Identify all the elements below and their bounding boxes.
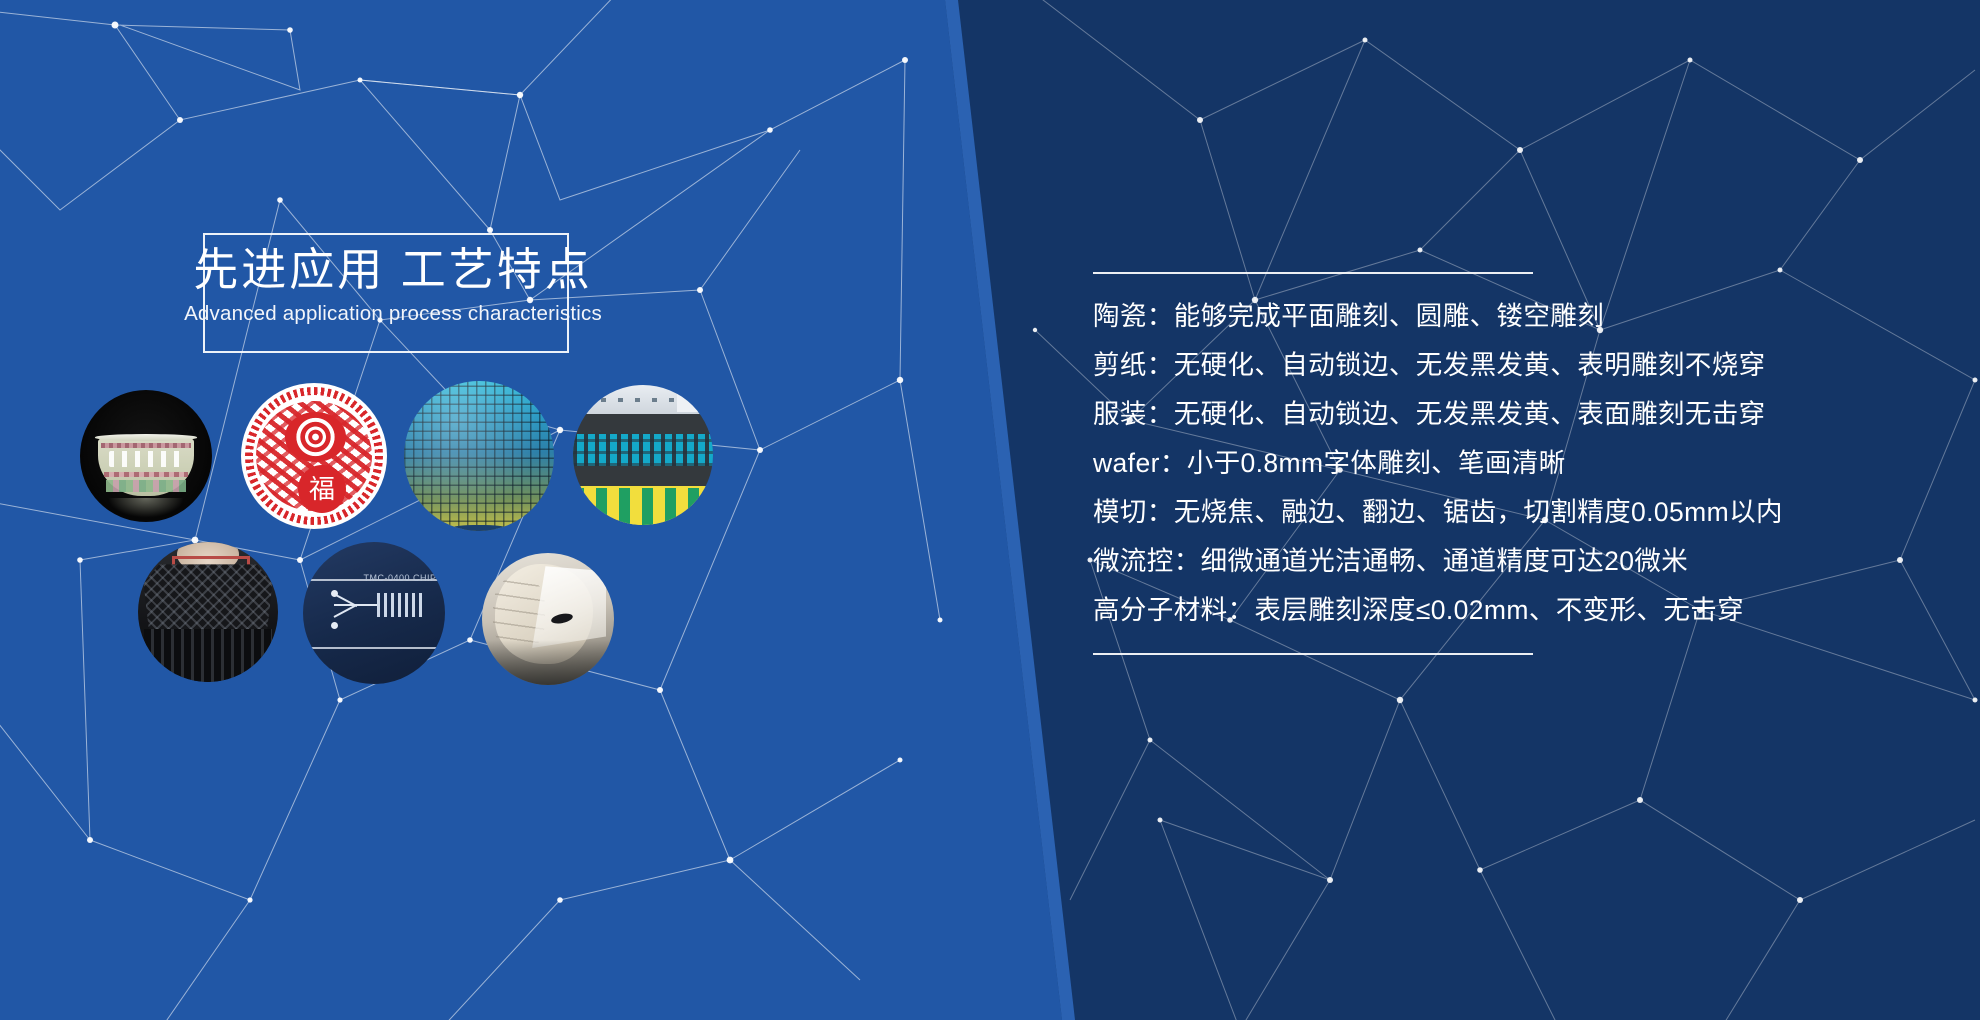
gallery-image-paper-cutting[interactable]: 福 <box>241 383 387 529</box>
gallery-image-silicon-wafer[interactable] <box>404 381 554 531</box>
bowl-rim <box>95 434 198 441</box>
divider-bottom <box>1093 653 1533 655</box>
photo-bottom-shadow <box>482 640 614 685</box>
feature-item-microfluidics: 微流控：细微通道光洁通畅、通道精度可达20微米 <box>1093 537 1893 586</box>
apparel-photo <box>138 542 278 682</box>
gallery-image-ceramic-bowl[interactable] <box>80 390 212 522</box>
gallery-image-polymer-film-in-hand[interactable] <box>482 553 614 685</box>
feature-item-diecut: 模切：无烧焦、融边、翻边、锯齿，切割精度0.05mm以内 <box>1093 488 1893 537</box>
chip-band-cyan <box>573 434 713 466</box>
paper-cut-fu-glyph: 福 <box>298 465 346 513</box>
ceramic-bowl-photo <box>80 390 212 522</box>
chip-band-dark-lower <box>573 466 713 486</box>
feature-item-papercut: 剪纸：无硬化、自动锁边、无发黑发黄、表明雕刻不烧穿 <box>1093 341 1893 390</box>
microfluidic-chip-photo: TMC-0400 CHIP <box>303 542 445 684</box>
chip-micro-channel-array <box>377 593 425 617</box>
wafer-notch-flat <box>449 525 509 531</box>
chip-white-corner <box>677 388 708 412</box>
chip-edge-line-bottom <box>303 647 445 649</box>
chip-part-label: TMC-0400 CHIP <box>363 573 436 583</box>
feature-list: 陶瓷：能够完成平面雕刻、圆雕、镂空雕刻 剪纸：无硬化、自动锁边、无发黑发黄、表明… <box>1093 274 1893 635</box>
wafer-specular-highlight <box>404 381 554 531</box>
gallery-image-microfluidic-channel-chip[interactable]: TMC-0400 CHIP <box>303 542 445 684</box>
paper-cutting-photo: 福 <box>241 383 387 529</box>
chip-bands-photo <box>573 385 713 525</box>
feature-item-polymer: 高分子材料：表层雕刻深度≤0.02mm、不变形、无击穿 <box>1093 586 1893 635</box>
silicon-wafer-photo <box>404 381 554 531</box>
chip-inlet-port-lower <box>331 622 338 629</box>
bowl-carved-motif <box>109 451 183 467</box>
chip-band-dark-upper <box>573 414 713 434</box>
polymer-film-photo <box>482 553 614 685</box>
feature-item-wafer: wafer：小于0.8mm字体雕刻、笔画清晰 <box>1093 439 1893 488</box>
feature-item-ceramic: 陶瓷：能够完成平面雕刻、圆雕、镂空雕刻 <box>1093 274 1893 341</box>
garment-fringe <box>144 629 273 682</box>
bowl-reflection <box>109 498 183 516</box>
gallery-image-laser-cut-apparel[interactable] <box>138 542 278 682</box>
page-title: 先进应用 工艺特点 <box>183 241 603 299</box>
feature-panel: 陶瓷：能够完成平面雕刻、圆雕、镂空雕刻 剪纸：无硬化、自动锁边、无发黑发黄、表明… <box>1093 272 1893 655</box>
gallery-image-microfluidic-chip-bands[interactable] <box>573 385 713 525</box>
chip-band-yellow <box>573 486 713 525</box>
chip-cyan-hole-rows <box>573 434 713 466</box>
bowl-lower-band <box>104 472 188 477</box>
paper-cut-peony <box>285 412 346 462</box>
bowl-upper-band <box>101 443 191 448</box>
title-frame: 先进应用 工艺特点 Advanced application process c… <box>203 233 569 353</box>
bowl-floral-band <box>106 480 185 492</box>
page-subtitle: Advanced application process characteris… <box>183 299 603 329</box>
feature-item-apparel: 服装：无硬化、自动锁边、无发黑发黄、表面雕刻无击穿 <box>1093 390 1893 439</box>
chip-yellow-green-caps <box>573 488 713 525</box>
slide-canvas: 先进应用 工艺特点 Advanced application process c… <box>0 0 1980 1020</box>
